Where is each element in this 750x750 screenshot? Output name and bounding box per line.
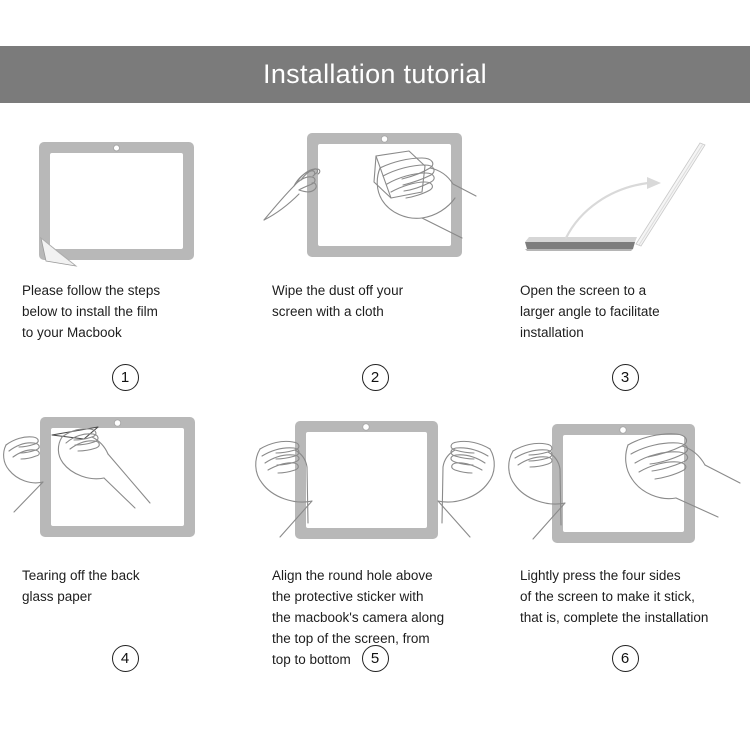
step-number-badge: 6 (612, 645, 639, 672)
step-4-number-wrap: 4 (0, 645, 250, 672)
page-title: Installation tutorial (263, 61, 487, 88)
two-hands-aligning-film-over-screen-icon (250, 405, 500, 555)
tutorial-step-4: Tearing off the back glass paper 4 (0, 405, 250, 705)
step-5-illustration (250, 405, 500, 555)
step-6-illustration (500, 405, 750, 555)
step-3-number-wrap: 3 (500, 364, 750, 391)
step-6-number-wrap: 6 (500, 645, 750, 672)
step-2-illustration (250, 120, 500, 270)
tutorial-steps-grid: Please follow the steps below to install… (0, 120, 750, 705)
step-5-number-wrap: 5 (250, 645, 500, 672)
step-1-illustration (0, 120, 250, 270)
laptop-opening-side-view-with-arrow-icon (500, 120, 750, 270)
step-number-badge: 5 (362, 645, 389, 672)
step-2-number-wrap: 2 (250, 364, 500, 391)
tablet-with-peeling-film-corner-icon (0, 120, 250, 270)
tutorial-step-1: Please follow the steps below to install… (0, 120, 250, 405)
tutorial-step-6: Lightly press the four sides of the scre… (500, 405, 750, 705)
step-number-badge: 1 (112, 364, 139, 391)
hand-pressing-film-onto-screen-icon (500, 405, 750, 555)
step-3-caption: Open the screen to a larger angle to fac… (500, 280, 750, 343)
step-3-illustration (500, 120, 750, 270)
header-banner: Installation tutorial (0, 46, 750, 103)
step-4-illustration (0, 405, 250, 555)
step-6-caption: Lightly press the four sides of the scre… (500, 565, 750, 628)
step-number-badge: 3 (612, 364, 639, 391)
step-2-caption: Wipe the dust off your screen with a clo… (250, 280, 500, 322)
step-1-caption: Please follow the steps below to install… (0, 280, 250, 343)
tutorial-step-3: Open the screen to a larger angle to fac… (500, 120, 750, 405)
step-4-caption: Tearing off the back glass paper (0, 565, 250, 607)
step-number-badge: 4 (112, 645, 139, 672)
hands-peeling-back-glass-paper-icon (0, 405, 250, 555)
hands-wiping-screen-with-cloth-icon (250, 120, 500, 270)
step-1-number-wrap: 1 (0, 364, 250, 391)
tutorial-step-5: Align the round hole above the protectiv… (250, 405, 500, 705)
tutorial-step-2: Wipe the dust off your screen with a clo… (250, 120, 500, 405)
step-number-badge: 2 (362, 364, 389, 391)
